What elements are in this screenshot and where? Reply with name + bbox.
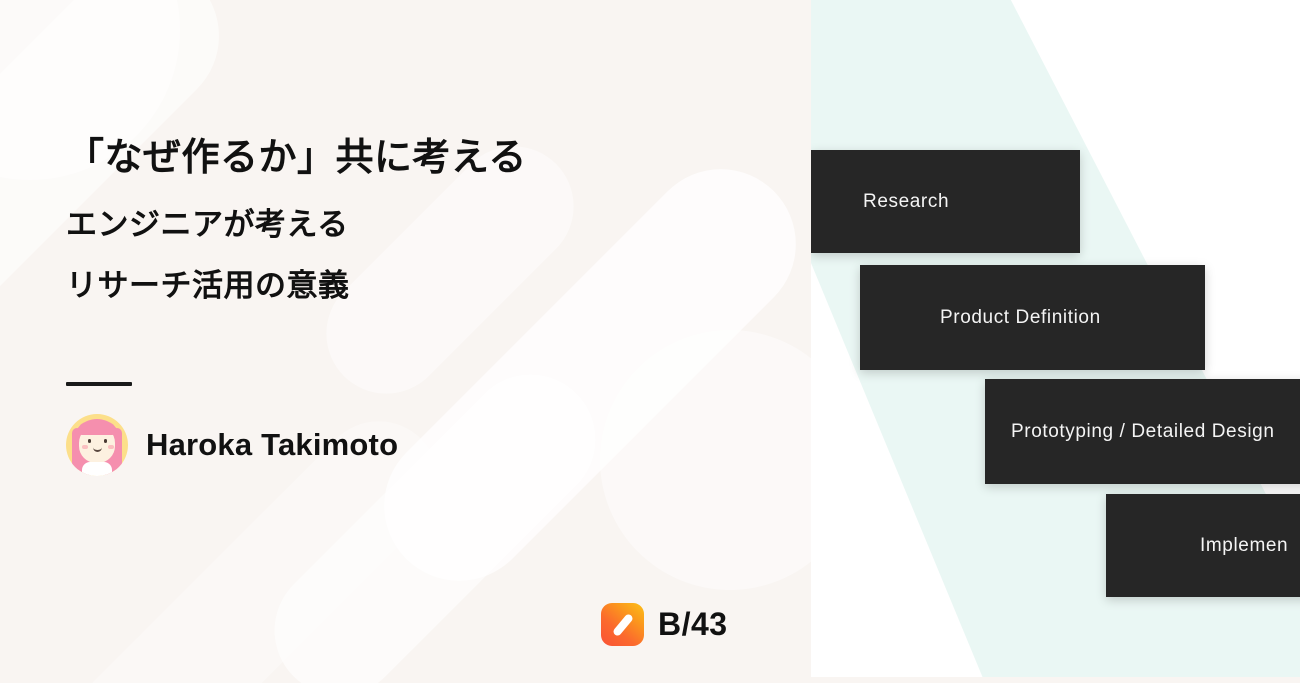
process-stage-label-3: Prototyping / Detailed Design bbox=[1011, 421, 1274, 443]
process-stage-label-2: Product Definition bbox=[940, 307, 1101, 329]
title-line-1: 「なぜ作るか」共に考える bbox=[66, 139, 766, 177]
avatar-eye-right-icon bbox=[104, 439, 107, 443]
process-staircase-diagram: Research Product Definition Prototyping … bbox=[811, 0, 1300, 683]
author-row: Haroka Takimoto bbox=[66, 414, 398, 476]
title-line-2: エンジニアが考える bbox=[66, 209, 766, 240]
slide-cover: 「なぜ作るか」共に考える エンジニアが考える リサーチ活用の意義 bbox=[0, 0, 1300, 683]
left-panel: 「なぜ作るか」共に考える エンジニアが考える リサーチ活用の意義 bbox=[0, 0, 811, 683]
process-stage-box-2: Product Definition bbox=[860, 265, 1205, 370]
avatar bbox=[66, 414, 128, 476]
bottom-strip bbox=[811, 677, 1300, 683]
page-title: 「なぜ作るか」共に考える エンジニアが考える リサーチ活用の意義 bbox=[66, 139, 766, 331]
process-stage-box-3: Prototyping / Detailed Design bbox=[985, 379, 1300, 484]
left-content: 「なぜ作るか」共に考える エンジニアが考える リサーチ活用の意義 bbox=[66, 0, 766, 683]
avatar-cheek-left-icon bbox=[82, 445, 88, 449]
process-stage-box-1: Research bbox=[811, 150, 1080, 253]
right-panel-image: Research Product Definition Prototyping … bbox=[811, 0, 1300, 683]
avatar-eye-left-icon bbox=[88, 439, 91, 443]
brand-name: B/43 bbox=[658, 606, 728, 643]
b43-slash-icon bbox=[611, 612, 633, 636]
brand-lockup: B/43 bbox=[601, 603, 728, 646]
avatar-body-icon bbox=[82, 462, 112, 476]
process-stage-label-1: Research bbox=[863, 191, 949, 213]
b43-logo-icon bbox=[601, 603, 644, 646]
avatar-cheek-right-icon bbox=[108, 445, 114, 449]
avatar-fringe-icon bbox=[78, 422, 116, 435]
author-name: Haroka Takimoto bbox=[146, 427, 398, 463]
title-line-3: リサーチ活用の意義 bbox=[66, 270, 766, 301]
process-stage-box-4: Implemen bbox=[1106, 494, 1300, 597]
process-stage-label-4: Implemen bbox=[1200, 535, 1288, 557]
title-divider bbox=[66, 382, 132, 386]
